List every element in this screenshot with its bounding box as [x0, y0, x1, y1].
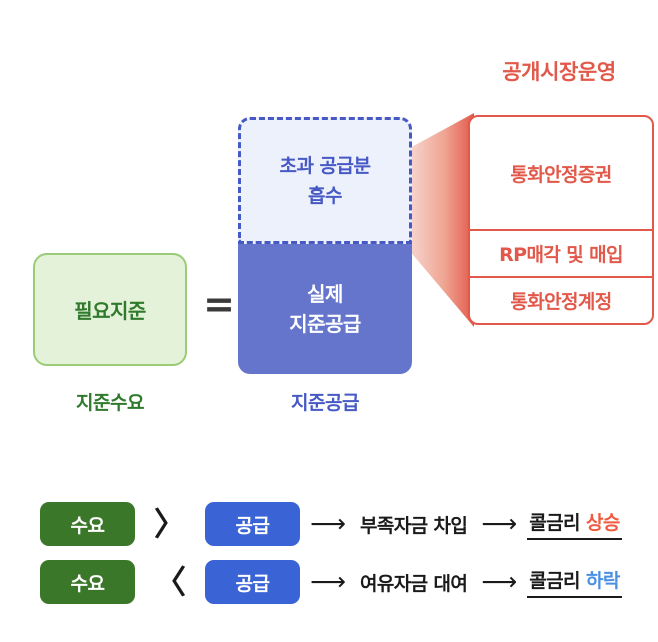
diagram-canvas: 공개시장운영 통화안정증권 RP매각 및 매입 통화안정계정 초과 공급분 흡수…: [0, 0, 658, 642]
excess-supply-line1: 초과 공급분: [279, 155, 370, 177]
supply-pill: 공급: [205, 560, 300, 604]
comparison-row-demand-exceeds-supply: 수요 〉 공급 ⟶ 부족자금 차입 ⟶ 콜금리 상승: [40, 501, 658, 547]
actual-supply-line1: 실제: [307, 282, 343, 306]
instrument-row-monetary-stabilization-bond: 통화안정증권: [470, 117, 652, 229]
excess-supply-line2: 흡수: [308, 185, 342, 207]
equals-sign: =: [203, 282, 235, 326]
open-market-box: 통화안정증권 RP매각 및 매입 통화안정계정: [468, 115, 654, 325]
reserve-supply-caption: 지준공급: [238, 388, 412, 415]
demand-pill: 수요: [40, 502, 135, 546]
reserve-supply-stack: 초과 공급분 흡수 실제 지준공급: [238, 117, 412, 374]
arrow-right-icon: ⟶: [471, 560, 527, 604]
excess-supply-text: 초과 공급분 흡수: [279, 151, 370, 211]
comparison-row-supply-exceeds-demand: 수요 〈 공급 ⟶ 여유자금 대여 ⟶ 콜금리 하락: [40, 559, 658, 605]
arrow-right-icon: ⟶: [471, 502, 527, 546]
supply-pill: 공급: [205, 502, 300, 546]
call-rate-label: 콜금리: [529, 570, 586, 592]
arrow-right-icon: ⟶: [300, 560, 356, 604]
call-rate-label: 콜금리: [529, 512, 586, 534]
funnel-connector-shape: [408, 113, 474, 327]
comparison-sign-less-than: 〈: [135, 560, 205, 604]
open-market-title: 공개시장운영: [460, 58, 658, 86]
comparison-sign-greater-than: 〉: [135, 502, 205, 546]
instrument-row-rp-sale-and-purchase: RP매각 및 매입: [470, 229, 652, 276]
instrument-row-monetary-stabilization-account: 통화안정계정: [470, 276, 652, 323]
demand-pill: 수요: [40, 560, 135, 604]
reserve-demand-caption: 지준수요: [33, 388, 187, 415]
excess-supply-absorption-box: 초과 공급분 흡수: [238, 117, 412, 244]
actual-supply-line2: 지준공급: [289, 312, 361, 336]
actual-reserve-supply-box: 실제 지준공급: [238, 244, 412, 374]
call-rate-result: 콜금리 하락: [527, 566, 621, 598]
consequence-phrase: 부족자금 차입: [356, 511, 471, 538]
actual-supply-text: 실제 지준공급: [289, 279, 361, 339]
arrow-right-icon: ⟶: [300, 502, 356, 546]
required-reserves-box: 필요지준: [33, 253, 187, 366]
consequence-phrase: 여유자금 대여: [356, 569, 471, 596]
call-rate-change: 상승: [586, 512, 620, 534]
call-rate-change: 하락: [586, 570, 620, 592]
call-rate-result: 콜금리 상승: [527, 508, 621, 540]
